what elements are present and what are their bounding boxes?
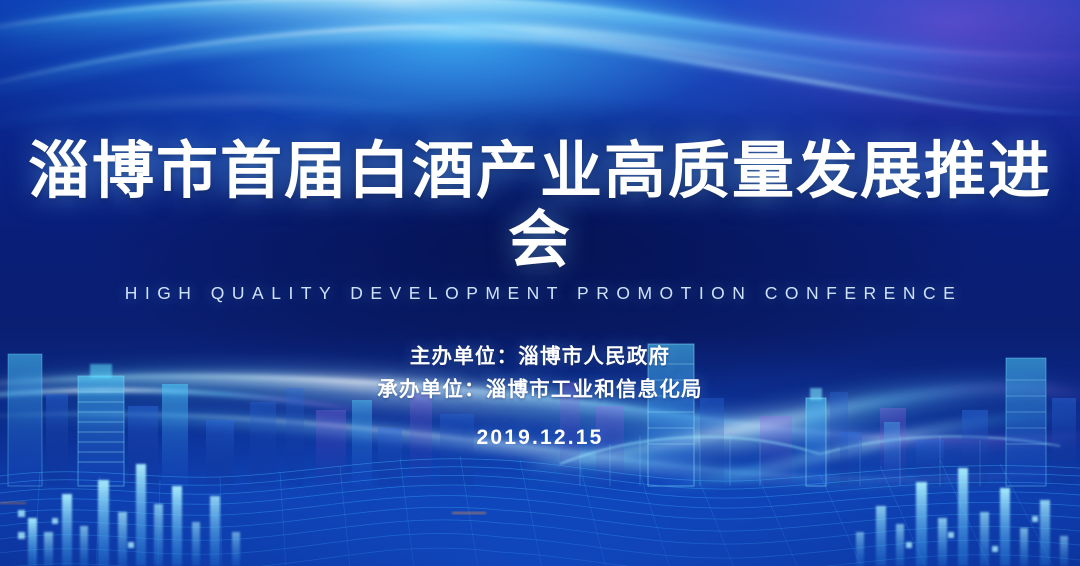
organizer-block: 主办单位：淄博市人民政府 承办单位：淄博市工业和信息化局 [0,340,1080,406]
poster-content: 淄博市首届白酒产业高质量发展推进会 HIGH QUALITY DEVELOPME… [0,0,1080,450]
subtitle-english: HIGH QUALITY DEVELOPMENT PROMOTION CONFE… [0,283,1080,304]
conference-poster: 淄博市首届白酒产业高质量发展推进会 HIGH QUALITY DEVELOPME… [0,0,1080,566]
page-title: 淄博市首届白酒产业高质量发展推进会 [0,136,1080,275]
organizer-host: 主办单位：淄博市人民政府 [0,340,1080,373]
event-date: 2019.12.15 [0,426,1080,450]
organizer-undertaker: 承办单位：淄博市工业和信息化局 [0,373,1080,406]
